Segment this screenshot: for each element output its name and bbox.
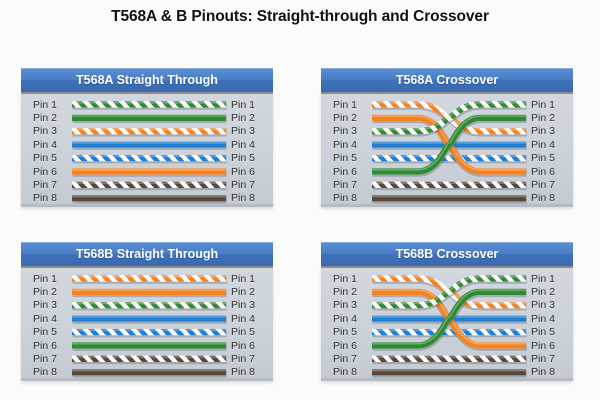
wire-diagram-t568a-crossover — [321, 94, 573, 204]
panel-body-t568a-crossover: Pin 1Pin 2Pin 3Pin 4Pin 5Pin 6Pin 7Pin 8… — [321, 94, 573, 207]
panel-t568b-straight: T568B Straight ThroughPin 1Pin 2Pin 3Pin… — [21, 242, 273, 381]
panel-body-t568b-crossover: Pin 1Pin 2Pin 3Pin 4Pin 5Pin 6Pin 7Pin 8… — [321, 268, 573, 381]
panel-header-t568a-straight: T568A Straight Through — [21, 68, 273, 94]
panel-body-t568b-straight: Pin 1Pin 2Pin 3Pin 4Pin 5Pin 6Pin 7Pin 8… — [21, 268, 273, 381]
panel-header-t568b-crossover: T568B Crossover — [321, 242, 573, 268]
panel-body-t568a-straight: Pin 1Pin 2Pin 3Pin 4Pin 5Pin 6Pin 7Pin 8… — [21, 94, 273, 207]
panel-t568a-crossover: T568A CrossoverPin 1Pin 2Pin 3Pin 4Pin 5… — [321, 68, 573, 207]
wire-diagram-t568a-straight — [21, 94, 273, 204]
panel-header-t568a-crossover: T568A Crossover — [321, 68, 573, 94]
wire-diagram-t568b-crossover — [321, 268, 573, 378]
page-title: T568A & B Pinouts: Straight-through and … — [0, 8, 600, 26]
panel-t568a-straight: T568A Straight ThroughPin 1Pin 2Pin 3Pin… — [21, 68, 273, 207]
panel-header-t568b-straight: T568B Straight Through — [21, 242, 273, 268]
panel-t568b-crossover: T568B CrossoverPin 1Pin 2Pin 3Pin 4Pin 5… — [321, 242, 573, 381]
wire-diagram-t568b-straight — [21, 268, 273, 378]
